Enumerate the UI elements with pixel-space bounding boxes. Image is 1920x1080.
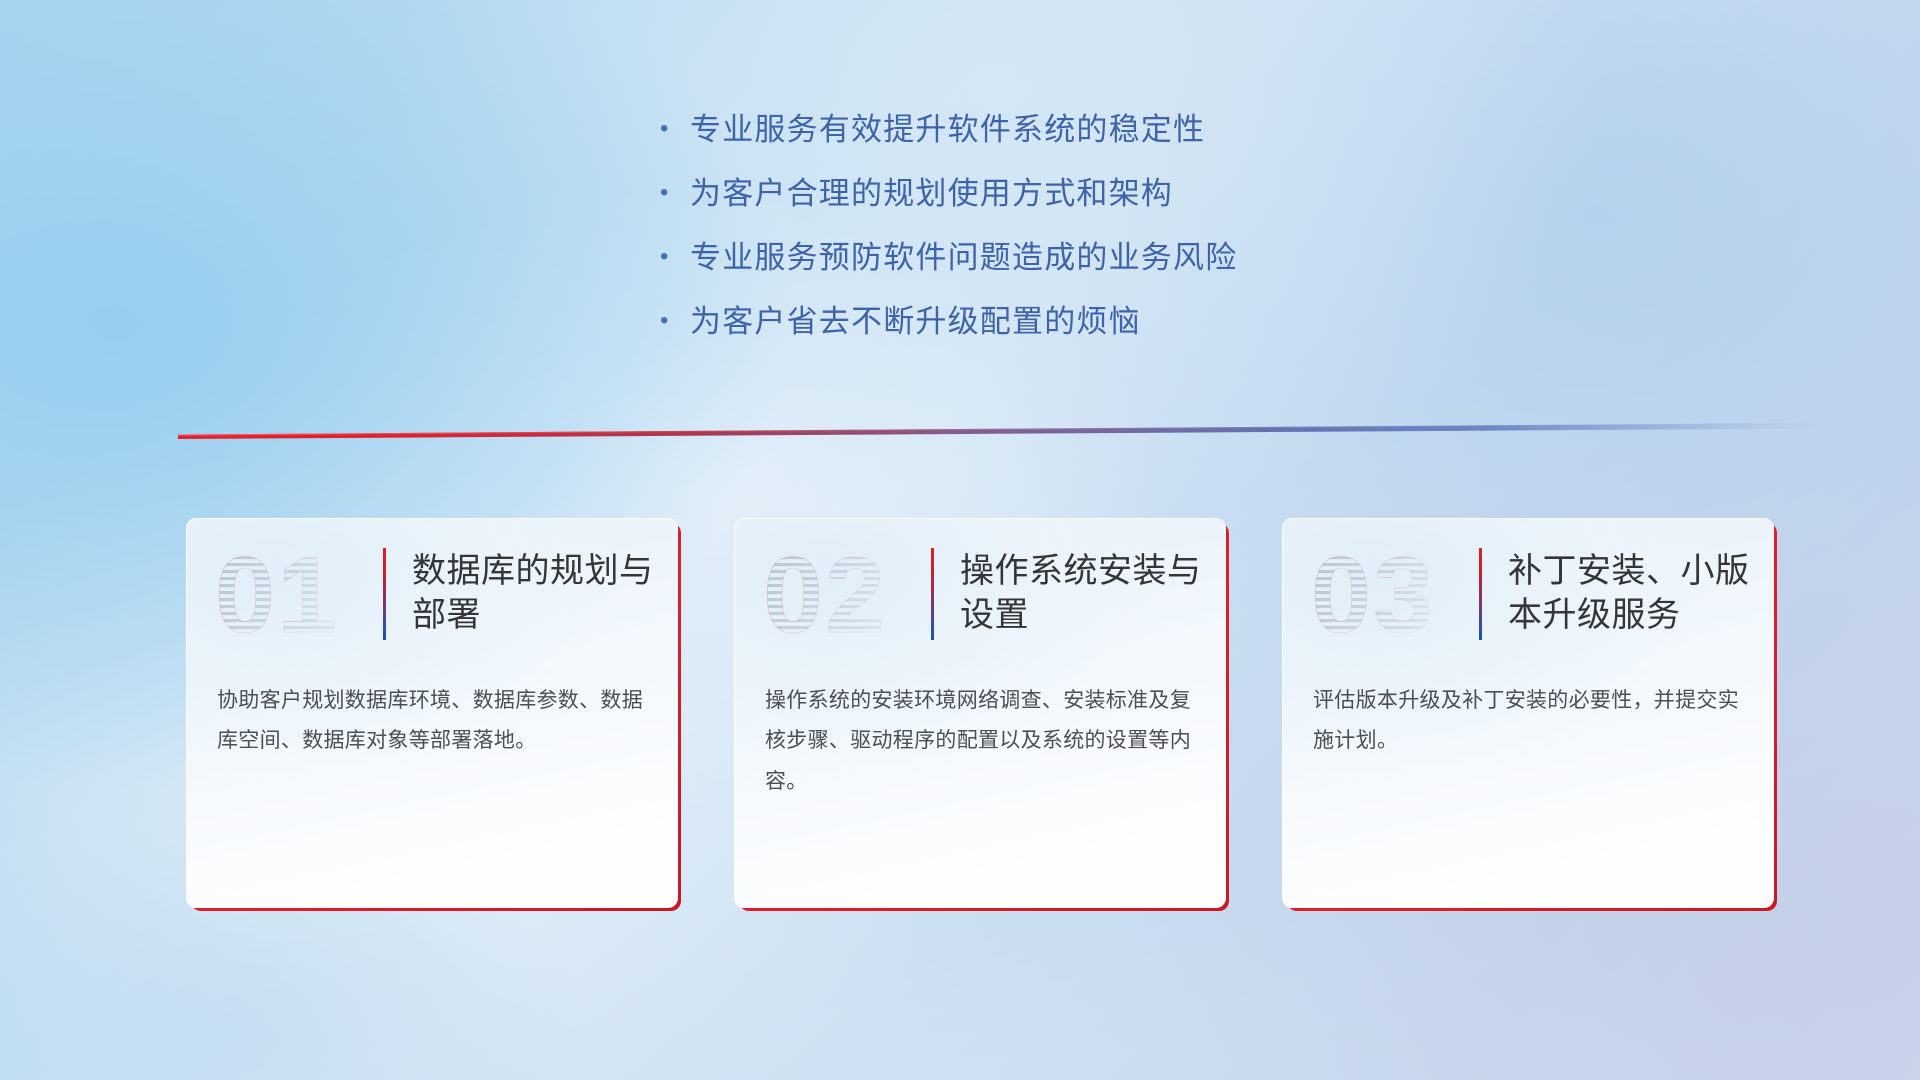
card-surface: 03 03 补丁安装、小版本升级服务 评估版本升级及补丁安装的必要性，并提交实施… xyxy=(1282,518,1774,908)
bullet-dot-icon xyxy=(660,181,690,205)
bullet-dot-icon xyxy=(660,245,690,269)
service-card[interactable]: 01 01 数据库的规划与部署 协助客户规划数据库环境、数据库参数、数据库空间、… xyxy=(186,518,678,908)
svg-text:03: 03 xyxy=(1311,535,1435,653)
card-accent-bar xyxy=(383,548,386,640)
striped-number-icon: 02 02 xyxy=(761,535,931,653)
card-number-watermark: 01 01 xyxy=(213,535,383,653)
card-number-watermark: 03 03 xyxy=(1309,535,1479,653)
card-accent-bar xyxy=(1479,548,1482,640)
striped-number-icon: 01 01 xyxy=(213,535,383,653)
card-accent-bar xyxy=(931,548,934,640)
benefits-bullet-list: 专业服务有效提升软件系统的稳定性 为客户合理的规划使用方式和架构 专业服务预防软… xyxy=(660,104,1380,360)
bullet-text: 专业服务预防软件问题造成的业务风险 xyxy=(690,232,1237,277)
card-body-text: 操作系统的安装环境网络调查、安装标准及复核步骤、驱动程序的配置以及系统的设置等内… xyxy=(735,669,1226,802)
card-body-text: 评估版本升级及补丁安装的必要性，并提交实施计划。 xyxy=(1283,669,1774,762)
card-surface: 02 02 操作系统安装与设置 操作系统的安装环境网络调查、安装标准及复核步骤、… xyxy=(734,518,1226,908)
list-item: 为客户省去不断升级配置的烦恼 xyxy=(660,296,1380,360)
bullet-text: 为客户合理的规划使用方式和架构 xyxy=(690,168,1173,213)
striped-number-icon: 03 03 xyxy=(1309,535,1479,653)
card-surface: 01 01 数据库的规划与部署 协助客户规划数据库环境、数据库参数、数据库空间、… xyxy=(186,518,678,908)
bullet-text: 为客户省去不断升级配置的烦恼 xyxy=(690,296,1141,341)
card-header: 02 02 操作系统安装与设置 xyxy=(735,519,1226,669)
service-card[interactable]: 02 02 操作系统安装与设置 操作系统的安装环境网络调查、安装标准及复核步骤、… xyxy=(734,518,1226,908)
card-title: 操作系统安装与设置 xyxy=(960,550,1226,637)
card-number-watermark: 02 02 xyxy=(761,535,931,653)
bullet-dot-icon xyxy=(660,309,690,333)
list-item: 专业服务有效提升软件系统的稳定性 xyxy=(660,104,1380,168)
service-card-list: 01 01 数据库的规划与部署 协助客户规划数据库环境、数据库参数、数据库空间、… xyxy=(186,518,1774,908)
list-item: 专业服务预防软件问题造成的业务风险 xyxy=(660,232,1380,296)
bullet-dot-icon xyxy=(660,117,690,141)
card-body-text: 协助客户规划数据库环境、数据库参数、数据库空间、数据库对象等部署落地。 xyxy=(187,669,678,762)
bullet-text: 专业服务有效提升软件系统的稳定性 xyxy=(690,104,1205,149)
card-header: 03 03 补丁安装、小版本升级服务 xyxy=(1283,519,1774,669)
card-title: 数据库的规划与部署 xyxy=(412,550,678,637)
card-header: 01 01 数据库的规划与部署 xyxy=(187,519,678,669)
gradient-wedge-divider-icon xyxy=(178,418,1818,440)
card-title: 补丁安装、小版本升级服务 xyxy=(1508,550,1774,637)
section-divider xyxy=(178,418,1818,440)
service-card[interactable]: 03 03 补丁安装、小版本升级服务 评估版本升级及补丁安装的必要性，并提交实施… xyxy=(1282,518,1774,908)
svg-text:02: 02 xyxy=(763,535,887,653)
svg-text:01: 01 xyxy=(215,535,339,653)
list-item: 为客户合理的规划使用方式和架构 xyxy=(660,168,1380,232)
